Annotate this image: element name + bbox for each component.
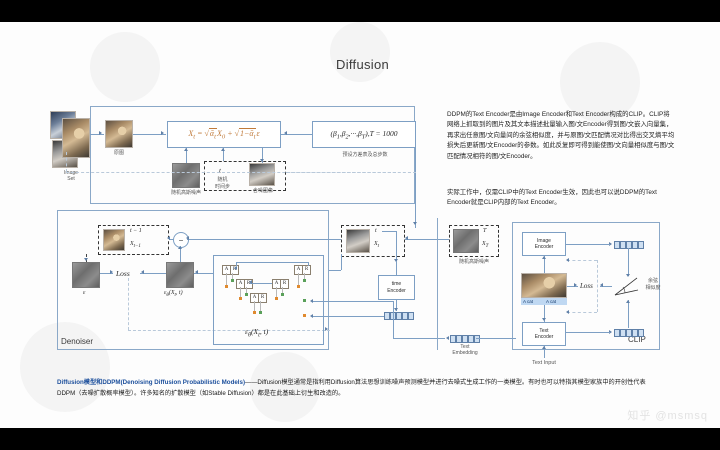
source-image-label: 原图 — [86, 150, 152, 156]
text-cond-dot — [303, 279, 306, 282]
letterbox-top — [0, 0, 720, 22]
letterbox-bottom — [0, 428, 720, 450]
bottom-note-title: Diffusion模型和DDPM(Denoising Diffusion Pro… — [57, 379, 245, 386]
connector — [329, 239, 341, 240]
xt-label: Xt — [374, 241, 379, 249]
arrow-left — [566, 258, 569, 262]
connector — [476, 338, 516, 339]
time-cond-dot — [303, 314, 306, 317]
xT-noise-patch — [453, 229, 479, 253]
page-title: Diffusion — [336, 57, 389, 72]
text-cond-dot — [259, 311, 262, 314]
arrow-left — [234, 266, 237, 270]
beta-schedule-caption: 预设方差表及总步数 — [320, 152, 410, 159]
arrow-left — [600, 283, 603, 287]
arrow-up — [626, 300, 630, 303]
arrow-left — [186, 236, 189, 240]
arrow-right — [110, 270, 113, 274]
beta-schedule-text: (β1,β2,···,βT),T = 1000 — [331, 129, 398, 141]
arrow-left — [405, 236, 408, 240]
time-cond-dot — [253, 311, 256, 314]
time-embedding-tokens — [384, 312, 414, 320]
connector — [566, 244, 610, 245]
pure-noise-label: 随机高斯噪声 — [444, 259, 504, 266]
time-cond-dot — [225, 285, 228, 288]
unet-label: εθ(Xt, t) — [245, 327, 268, 339]
xt-minus-1-label: Xt−1 — [130, 241, 141, 249]
beta-schedule-box: (β1,β2,···,βT),T = 1000 — [312, 121, 416, 148]
clip-feedback — [567, 312, 597, 313]
epsilon-noise-patch — [72, 262, 100, 288]
arrow-left — [284, 131, 287, 135]
time-cond-dot — [297, 285, 300, 288]
connector — [628, 248, 629, 276]
time-cond-line — [313, 316, 393, 317]
loss-feedback — [128, 278, 129, 330]
unet-skip-connection — [236, 262, 308, 263]
arrow-down — [394, 308, 398, 311]
arrow-left — [141, 270, 144, 274]
clip-loss-label: Loss — [580, 282, 593, 290]
caption-chip-1: A cat — [521, 298, 544, 305]
arrow-down — [542, 318, 546, 321]
cosine-angle-icon — [613, 274, 641, 298]
t-symbol: t — [219, 167, 221, 175]
epsilon-label: ε — [83, 290, 85, 296]
clip-feedback — [567, 260, 597, 261]
time-encoder-label: timeEncoder — [387, 281, 406, 294]
clip-feedback — [597, 260, 598, 312]
slide-canvas: Diffusion ImageSet 原图 Xt = √ᾱtX0 + √1−α… — [0, 22, 720, 428]
text-cond-dot — [303, 299, 306, 302]
connector — [187, 239, 339, 240]
screenshot-root: Diffusion ImageSet 原图 Xt = √ᾱtX0 + √1−α… — [0, 0, 720, 450]
right-note-1: DDPM的Text Encoder是由Image Encoder和Text En… — [447, 110, 675, 162]
time-cond-dot — [239, 297, 242, 300]
unet-skip-connection — [250, 283, 272, 284]
text-cond-dot — [245, 293, 248, 296]
unet-block-a3: AR — [250, 293, 267, 303]
bottom-note: Diffusion模型和DDPM(Denoising Diffusion Pro… — [57, 378, 662, 399]
connector — [329, 270, 341, 271]
t-label: 随机时间步 — [205, 177, 240, 190]
t-minus-1-label: t − 1 — [130, 228, 142, 234]
connector — [405, 239, 449, 240]
forward-formula-text: Xt = √ᾱtX0 + √1−ᾱtε — [188, 129, 259, 141]
text-embedding-tokens — [450, 335, 480, 343]
arrow-left — [167, 236, 170, 240]
forward-formula-box: Xt = √ᾱtX0 + √1−ᾱtε — [167, 121, 281, 148]
background-blob — [90, 32, 160, 102]
connector — [393, 301, 394, 316]
arrow-left — [195, 270, 198, 274]
unet-block-b1: AR — [294, 265, 311, 275]
connector — [566, 332, 610, 333]
image-embedding-tokens — [614, 241, 644, 249]
arrow-right — [161, 131, 164, 135]
connector — [341, 254, 342, 270]
unet-block-b2: AR — [272, 279, 289, 289]
text-embedding-label: TextEmbedding — [435, 344, 495, 357]
arrow-right — [99, 131, 102, 135]
dotted-bus — [286, 172, 416, 173]
arrow-right — [325, 327, 328, 331]
arrow-down — [413, 222, 417, 225]
time-encoder-box: timeEncoder — [378, 275, 415, 300]
image-encoder-label: ImageEncoder — [535, 238, 554, 251]
arrow-up — [178, 246, 182, 249]
arrow-down — [260, 159, 264, 162]
denoiser-section-label: Denoiser — [61, 337, 93, 346]
arrow-up — [542, 256, 546, 259]
source-image — [105, 120, 133, 148]
t-symbol-mid: t — [375, 228, 377, 234]
arrow-up — [221, 148, 225, 151]
arrow-up — [184, 148, 188, 151]
arrow-down — [84, 258, 88, 261]
watermark: 知乎 @msmsq — [627, 407, 708, 423]
dotted-bus — [66, 152, 67, 172]
predicted-noise-patch — [166, 262, 194, 288]
T-symbol: T — [483, 228, 486, 234]
arrow-up — [542, 346, 546, 349]
connector — [415, 148, 416, 228]
xt-image — [346, 229, 370, 253]
xt-minus-1-image — [103, 229, 125, 251]
eps-theta-label: εθ(Xt, t) — [164, 290, 183, 298]
image-encoder-box: ImageEncoder — [522, 232, 566, 256]
time-cond-dot — [275, 297, 278, 300]
cosine-similarity-label: 余弦相似度 — [640, 278, 666, 291]
arrow-left — [446, 336, 449, 340]
text-cond-dot — [231, 279, 234, 282]
connector — [382, 231, 396, 232]
text-encoder-box: TextEncoder — [522, 322, 566, 346]
section-divider — [437, 218, 438, 350]
caption-chip-2: A cat — [544, 298, 567, 305]
gaussian-noise-patch — [172, 163, 200, 188]
arrow-left — [249, 280, 252, 284]
text-cond-line — [313, 301, 393, 302]
denoiser-loss-label: Loss — [116, 269, 130, 278]
text-input-label: Text Input — [514, 360, 574, 367]
text-encoder-label: TextEncoder — [535, 328, 554, 341]
connector — [628, 300, 629, 328]
noisy-image-label: 含噪图像 — [243, 188, 283, 195]
right-note-2: 实际工作中，仅需CLIP中的Text Encoder生效，因此也可以说DDPM的… — [447, 188, 675, 209]
text-cond-dot — [281, 293, 284, 296]
unet-skip-connection — [308, 262, 309, 266]
connector — [393, 316, 394, 338]
noisy-image-patch — [249, 163, 275, 186]
text-embedding-tokens-clip — [614, 329, 644, 337]
background-blob — [330, 22, 390, 82]
connector — [396, 231, 397, 261]
clip-sample-image — [521, 273, 567, 298]
connector — [396, 261, 397, 275]
arrow-right — [574, 283, 577, 287]
xT-label: XT — [482, 241, 488, 249]
arrow-left — [566, 310, 569, 314]
